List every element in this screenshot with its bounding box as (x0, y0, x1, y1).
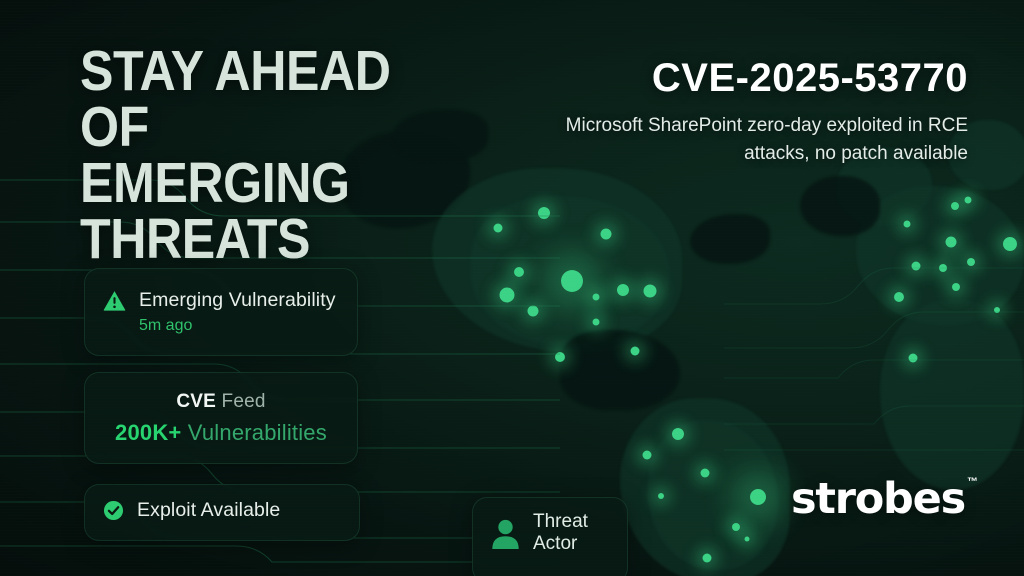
strobes-logo: strobes ™ (791, 474, 978, 524)
threat-actor-line-2: Actor (533, 533, 588, 555)
map-threat-dot (732, 523, 740, 531)
user-icon (489, 517, 522, 550)
map-threat-dot (946, 237, 957, 248)
map-threat-dot (617, 284, 629, 296)
cve-feed-label-bold: CVE (176, 391, 216, 412)
map-threat-dot (658, 493, 664, 499)
cve-feed-card[interactable]: CVE Feed 200K+ Vulnerabilities (84, 372, 358, 464)
map-threat-dot (644, 285, 657, 298)
threat-actor-line-1: Threat (533, 511, 588, 533)
threat-actor-label: Threat Actor (533, 511, 588, 555)
poster-canvas: STAY AHEAD OF EMERGING THREATS Emerging … (0, 0, 1024, 576)
map-threat-dot (750, 489, 766, 505)
map-threat-dot (643, 451, 652, 460)
map-threat-dot (904, 221, 911, 228)
map-threat-dot (672, 428, 684, 440)
cve-description: Microsoft SharePoint zero-day exploited … (538, 112, 968, 167)
map-threat-dot (593, 319, 600, 326)
map-threat-dot (1003, 237, 1017, 251)
cve-id-title: CVE-2025-53770 (652, 56, 968, 101)
map-threat-dot (951, 202, 959, 210)
map-threat-dot (745, 537, 750, 542)
map-threat-dot (965, 197, 972, 204)
emerging-vulnerability-title: Emerging Vulnerability (139, 289, 336, 312)
trademark-symbol: ™ (967, 476, 978, 488)
headline-line-3: THREATS (80, 212, 432, 268)
map-landmass (800, 176, 880, 236)
cve-feed-label-light: Feed (222, 391, 266, 412)
map-threat-dot (701, 469, 710, 478)
map-threat-dot (703, 554, 712, 563)
page-headline: STAY AHEAD OF EMERGING THREATS (80, 44, 432, 267)
emerging-vulnerability-card[interactable]: Emerging Vulnerability 5m ago (84, 268, 358, 356)
map-threat-dot (601, 229, 612, 240)
map-landmass (560, 330, 680, 410)
cve-feed-label: CVE Feed (103, 391, 339, 413)
logo-wordmark: strobes (791, 474, 965, 524)
emerging-vulnerability-timestamp: 5m ago (139, 317, 339, 335)
map-threat-dot (561, 270, 583, 292)
cve-feed-stat: 200K+ Vulnerabilities (103, 420, 339, 446)
map-threat-dot (631, 347, 640, 356)
threat-actor-card[interactable]: Threat Actor (472, 497, 628, 576)
cve-feed-count-label: Vulnerabilities (188, 420, 327, 445)
warning-triangle-icon (103, 290, 126, 311)
check-circle-icon (103, 500, 124, 521)
exploit-available-title: Exploit Available (137, 499, 280, 522)
circuit-traces-right (724, 250, 1024, 480)
map-threat-dot (593, 294, 600, 301)
headline-line-1: STAY AHEAD OF (80, 44, 432, 156)
exploit-available-card[interactable]: Exploit Available (84, 484, 360, 541)
headline-line-2: EMERGING (80, 156, 432, 212)
cve-feed-count: 200K+ (115, 420, 181, 445)
